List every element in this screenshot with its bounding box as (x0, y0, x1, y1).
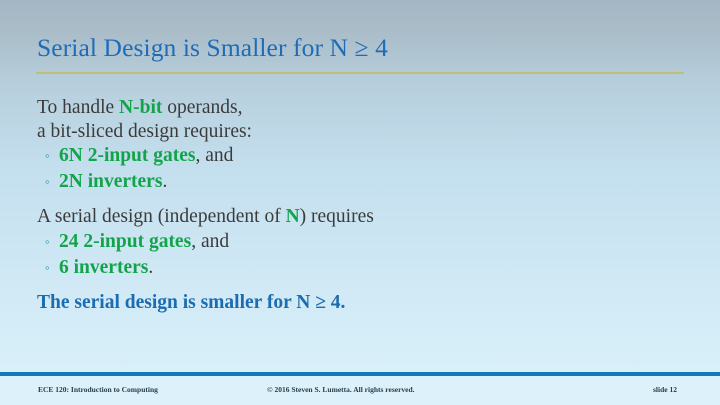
paragraph-serial-line1: A serial design (independent of N) requi… (37, 205, 687, 229)
list-item: ◦6 inverters. (37, 255, 687, 281)
intro-text-pre: To handle (37, 97, 119, 118)
list-item: ◦6N 2-input gates, and (37, 143, 687, 169)
slide-canvas: Serial Design is Smaller for N ≥ 4 To ha… (0, 0, 720, 405)
title-underline-rule (36, 72, 684, 74)
list-item-highlight: 6N 2-input gates (59, 145, 196, 166)
list-item: ◦24 2-input gates, and (37, 229, 687, 255)
paragraph-spacer (37, 281, 687, 291)
bullet-circle-icon: ◦ (45, 229, 59, 255)
conclusion-statement: The serial design is smaller for N ≥ 4. (37, 291, 687, 315)
intro-highlight-nbit: N-bit (119, 97, 162, 118)
list-item-trailing: . (162, 171, 167, 192)
serial-highlight-n: N (286, 206, 300, 227)
list-item-trailing: , and (191, 231, 229, 252)
list-item-trailing: . (148, 257, 153, 278)
footer-copyright-label: © 2016 Steven S. Lumetta. All rights res… (267, 385, 415, 394)
bullet-circle-icon: ◦ (45, 255, 59, 281)
paragraph-intro-line2: a bit-sliced design requires: (37, 120, 687, 144)
list-item: ◦2N inverters. (37, 169, 687, 195)
footer-course-label: ECE 120: Introduction to Computing (38, 385, 158, 394)
serial-text-post: ) requires (300, 206, 374, 227)
list-item-highlight: 24 2-input gates (59, 231, 191, 252)
list-item-highlight: 6 inverters (59, 257, 148, 278)
paragraph-spacer (37, 195, 687, 205)
paragraph-intro-line1: To handle N-bit operands, (37, 96, 687, 120)
page-title: Serial Design is Smaller for N ≥ 4 (37, 33, 388, 63)
list-item-trailing: , and (196, 145, 234, 166)
bullet-circle-icon: ◦ (45, 169, 59, 195)
intro-text-post: operands, (162, 97, 242, 118)
footer-slide-number: slide 12 (653, 385, 677, 394)
bullet-circle-icon: ◦ (45, 143, 59, 169)
serial-text-pre: A serial design (independent of (37, 206, 286, 227)
slide-body: To handle N-bit operands, a bit-sliced d… (37, 96, 687, 315)
list-item-highlight: 2N inverters (59, 171, 162, 192)
